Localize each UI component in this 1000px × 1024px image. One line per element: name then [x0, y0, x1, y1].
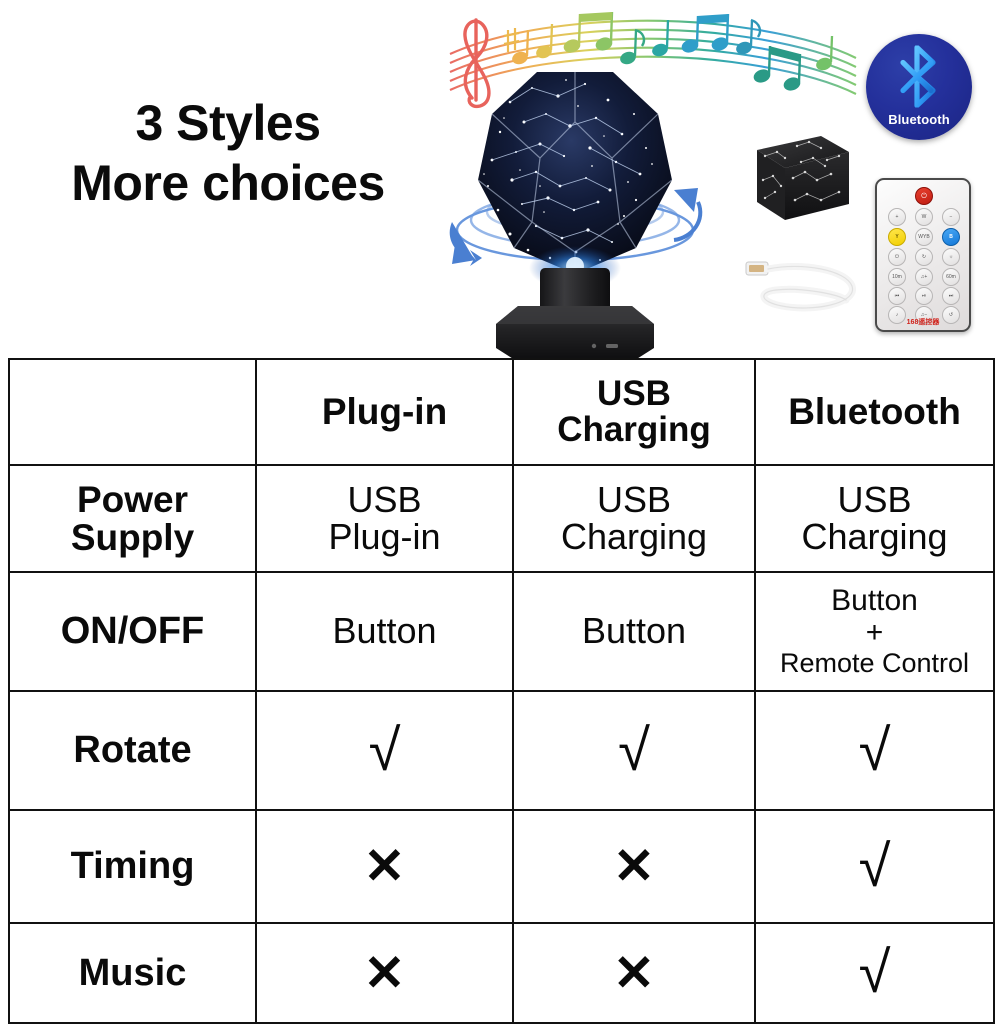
column-header-usb-charging: USB Charging: [513, 359, 755, 465]
table-row-timing: Timing ✕ ✕ √: [9, 810, 994, 923]
remote-button-rotate: ↻: [915, 248, 933, 266]
column-header-usb-charging-line-2: Charging: [518, 412, 750, 448]
bluetooth-icon: [895, 45, 943, 112]
cell-power-supply-plugin: USB Plug-in: [256, 465, 513, 572]
table-corner-cell: [9, 359, 256, 465]
remote-control: ⏻ + W − Y WYB B ⏻ ↻ ☼ 10m ♫+ 60m ⏮ ⏯ ⏭ ♪…: [875, 178, 971, 332]
remote-button-minus: −: [942, 208, 960, 226]
cell-on-off-plugin-line-1: Button: [261, 613, 508, 650]
remote-button-next: ⏭: [942, 287, 960, 305]
cell-on-off-usb-charging: Button: [513, 572, 755, 691]
cell-power-supply-plugin-line-1: USB: [261, 482, 508, 519]
table-row-music: Music ✕ ✕ √: [9, 923, 994, 1023]
row-label-rotate: Rotate: [9, 691, 256, 810]
row-label-power-supply-line-2: Supply: [14, 519, 251, 557]
remote-model-label: 168遥控器: [877, 317, 969, 327]
table-row-rotate: Rotate √ √ √: [9, 691, 994, 810]
remote-button-y: Y: [888, 228, 906, 246]
cell-on-off-bluetooth-line-1: Button: [760, 585, 989, 617]
cell-music-bluetooth: √: [755, 923, 994, 1023]
cell-on-off-usb-charging-line-1: Button: [518, 613, 750, 650]
cell-on-off-plugin: Button: [256, 572, 513, 691]
row-label-timing: Timing: [9, 810, 256, 923]
remote-button-previous: ⏮: [888, 287, 906, 305]
cell-power-supply-plugin-line-2: Plug-in: [261, 519, 508, 556]
cell-rotate-usb-charging: √: [513, 691, 755, 810]
usb-cable-icon: [742, 248, 867, 318]
column-header-plugin: Plug-in: [256, 359, 513, 465]
row-label-on-off: ON/OFF: [9, 572, 256, 691]
cell-on-off-bluetooth: Button + Remote Control: [755, 572, 994, 691]
remote-button-battery: ⏻: [888, 248, 906, 266]
cell-power-supply-bluetooth-line-1: USB: [760, 482, 989, 519]
row-label-power-supply: Power Supply: [9, 465, 256, 572]
table-row-on-off: ON/OFF Button Button Button + Remote Con…: [9, 572, 994, 691]
column-header-usb-charging-line-1: USB: [518, 376, 750, 412]
remote-button-wyb: WYB: [915, 228, 933, 246]
remote-button-timer-60: 60m: [942, 268, 960, 286]
remote-button-timer-10: 10m: [888, 268, 906, 286]
cell-power-supply-usb-charging-line-2: Charging: [518, 519, 750, 556]
cell-music-usb-charging: ✕: [513, 923, 755, 1023]
remote-button-volume-up: ♫+: [915, 268, 933, 286]
column-header-bluetooth: Bluetooth: [755, 359, 994, 465]
row-label-on-off-line-1: ON/OFF: [14, 612, 251, 651]
cell-power-supply-bluetooth-line-2: Charging: [760, 519, 989, 556]
cell-on-off-bluetooth-line-2: +: [760, 617, 989, 649]
comparison-table: Plug-in USB Charging Bluetooth Power Sup…: [8, 358, 995, 1024]
row-label-music: Music: [9, 923, 256, 1023]
cell-on-off-bluetooth-line-3: Remote Control: [760, 649, 989, 678]
bluetooth-badge: Bluetooth: [866, 34, 972, 140]
star-projector-lamp: [440, 62, 710, 358]
row-label-timing-line-1: Timing: [14, 847, 251, 886]
headline-line-1: 3 Styles: [18, 96, 438, 150]
row-label-power-supply-line-1: Power: [14, 481, 251, 519]
cell-power-supply-usb-charging-line-1: USB: [518, 482, 750, 519]
bluetooth-badge-label: Bluetooth: [866, 112, 972, 127]
row-label-music-line-1: Music: [14, 954, 251, 993]
cell-rotate-plugin: √: [256, 691, 513, 810]
row-label-rotate-line-1: Rotate: [14, 731, 251, 770]
cell-power-supply-usb-charging: USB Charging: [513, 465, 755, 572]
remote-power-button: ⏻: [915, 187, 933, 205]
constellation-gift-box: [735, 128, 855, 233]
column-header-plugin-line-1: Plug-in: [261, 393, 508, 431]
column-header-bluetooth-line-1: Bluetooth: [760, 393, 989, 431]
cell-timing-plugin: ✕: [256, 810, 513, 923]
cell-timing-bluetooth: √: [755, 810, 994, 923]
table-row-power-supply: Power Supply USB Plug-in USB Charging US…: [9, 465, 994, 572]
cell-power-supply-bluetooth: USB Charging: [755, 465, 994, 572]
remote-button-b: B: [942, 228, 960, 246]
remote-button-w: W: [915, 208, 933, 226]
remote-button-play-pause: ⏯: [915, 287, 933, 305]
headline-line-2: More choices: [18, 156, 438, 210]
cell-music-plugin: ✕: [256, 923, 513, 1023]
remote-button-plus: +: [888, 208, 906, 226]
table-header-row: Plug-in USB Charging Bluetooth: [9, 359, 994, 465]
cell-rotate-bluetooth: √: [755, 691, 994, 810]
remote-button-dim: ☼: [942, 248, 960, 266]
hero-banner: 3 Styles More choices: [0, 0, 1000, 358]
page-title: 3 Styles More choices: [18, 96, 438, 210]
cell-timing-usb-charging: ✕: [513, 810, 755, 923]
